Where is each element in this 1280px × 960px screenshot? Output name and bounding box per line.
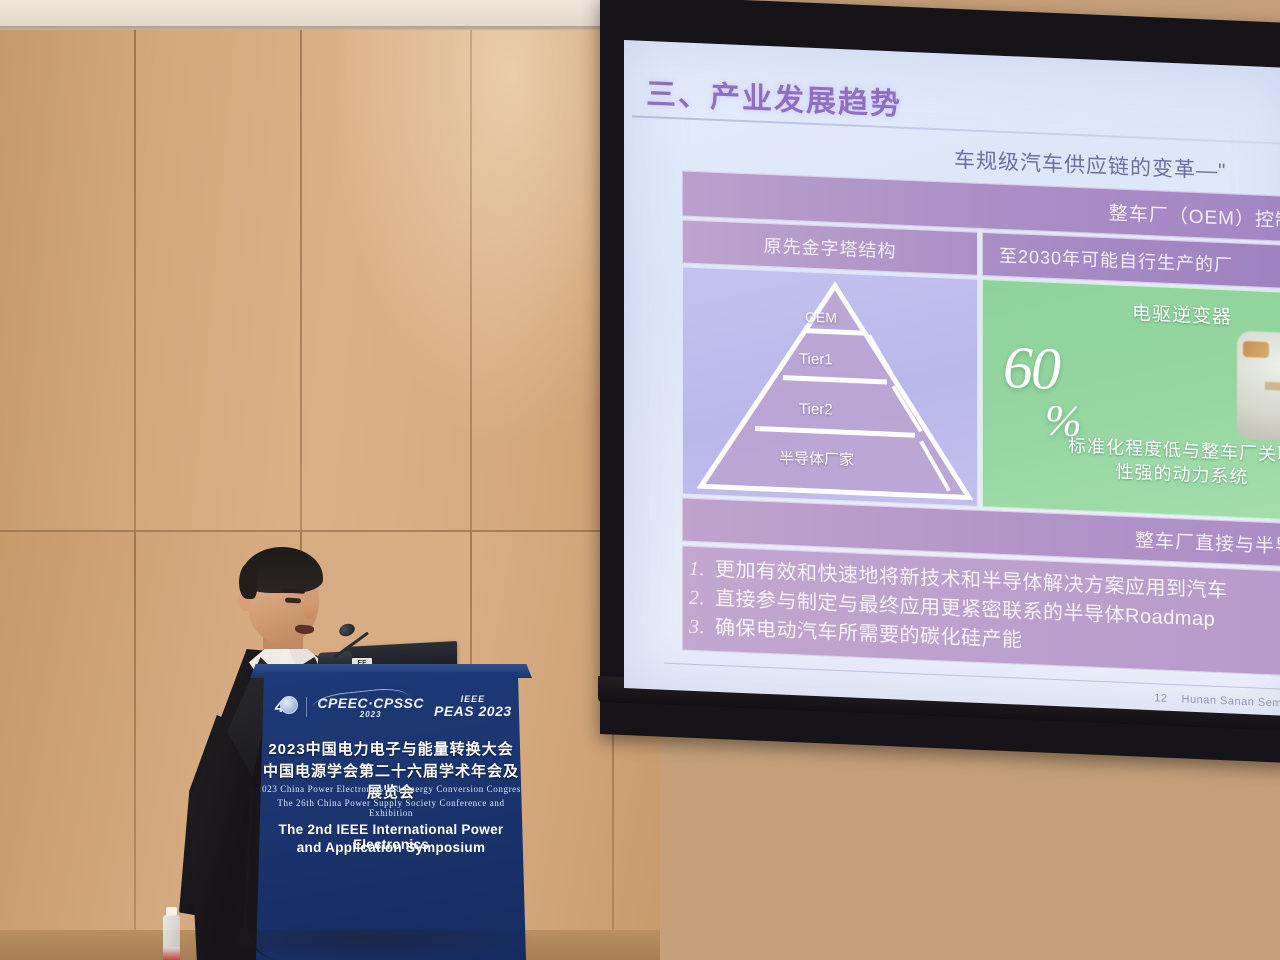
inverter-product-image [1237,331,1280,445]
podium-floor-shadow [180,930,540,960]
podium-chinese-title-2: 中国电源学会第二十六届学术年会及展览会 [256,760,526,802]
anniversary-40-logo-icon: 40 [270,694,296,720]
peas-year-text: PEAS 2023 [434,704,512,719]
cpeec-cpssc-logo: CPEEC·CPSSC 2023 [317,696,424,719]
podium-english-subtitle-2: The 26th China Power Supply Society Conf… [256,798,526,818]
pyramid-panel: OEM Tier1 Tier2 半导体厂家 [682,266,978,506]
presenter-eye [285,597,301,603]
green-highlight-panel: 电驱逆变器 60 % 标准化程度低与整车厂关联 性强的动力系统 [982,279,1280,524]
podium-symposium-title-2: and Application Symposium [256,840,526,855]
numbered-notes-list: 1. 更加有效和快速地将新技术和半导体解决方案应用到汽车 2. 直接参与制定与最… [682,545,1280,679]
podium-logo-row: 40 CPEEC·CPSSC 2023 IEEE PEAS 2023 [256,694,526,720]
title-divider [632,115,1280,145]
list-item-number: 3. [689,613,705,643]
slide-subtitle: 车规级汽车供应链的变革—" [954,144,1226,185]
wall-seam [134,532,136,960]
green-panel-number: 60 [1003,333,1059,404]
presentation-slide: 三、产业发展趋势 车规级汽车供应链的变革—" 整车厂（OEM）控制的供应价 原先… [624,40,1280,716]
bottle-label [163,947,180,960]
podium-chinese-title-1: 2023中国电力电子与能量转换大会 [256,738,526,759]
green-panel-caption: 标准化程度低与整车厂关联 性强的动力系统 [991,430,1280,495]
podium-front-panel: 40 CPEEC·CPSSC 2023 IEEE PEAS 2023 2023中… [256,672,526,960]
slide-page-number: 12 [1154,692,1167,705]
presenter-nose [304,603,315,619]
water-bottle [163,905,180,960]
logo-divider [306,697,307,717]
list-item-number: 1. [689,555,705,585]
presenter-sideburn [239,563,257,599]
ieee-peas-logo: IEEE PEAS 2023 [434,695,512,719]
pyramid-level-oem: OEM [805,309,837,326]
anniversary-globe-icon [280,696,298,714]
green-panel-heading: 电驱逆变器 [983,292,1280,336]
table-body-row: OEM Tier1 Tier2 半导体厂家 电驱逆变器 60 % 标准化程度低与… [682,266,1280,523]
pyramid-level-tier2: Tier2 [799,401,833,419]
cpeec-year-text: 2023 [317,711,424,719]
supply-chain-table: 整车厂（OEM）控制的供应价 原先金字塔结构 至2030年可能自行生产的厂 [682,170,1280,679]
conference-room-scene: 三、产业发展趋势 车规级汽车供应链的变革—" 整车厂（OEM）控制的供应价 原先… [0,0,1280,960]
banner-bottom-text: 整车厂直接与半导体厂家对 [1135,525,1280,562]
pyramid-level-tier1: Tier1 [799,351,833,369]
pyramid-level-semiconductor: 半导体厂家 [779,447,854,470]
slide-title: 三、产业发展趋势 [646,69,902,124]
banner-top-text: 整车厂（OEM）控制的供应价 [1109,198,1280,236]
podium-english-subtitle-1: 2023 China Power Electronics and Energy … [256,784,526,794]
list-item-number: 2. [689,584,705,614]
slide-footer-org: Hunan Sanan Sem [1182,693,1280,709]
